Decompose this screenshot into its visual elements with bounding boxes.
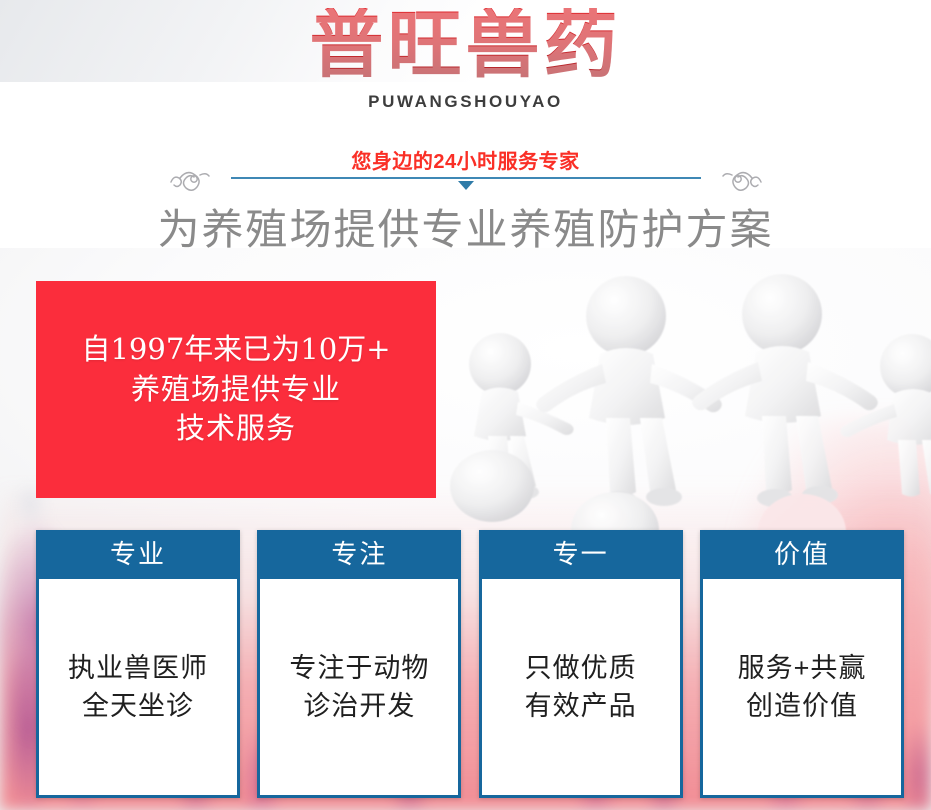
feature-card-body: 只做优质 有效产品 [479,579,683,798]
logo-block: 普旺兽药 PUWANGSHOUYAO [0,8,931,112]
claim-text: 自1997年来已为10万+ 养殖场提供专业 技术服务 [81,330,390,448]
claim-box: 自1997年来已为10万+ 养殖场提供专业 技术服务 [36,281,436,498]
feature-card-line-2: 创造价值 [738,687,867,725]
headline: 为养殖场提供专业养殖防护方案 [0,206,931,254]
brand-pinyin: PUWANGSHOUYAO [0,92,931,112]
promo-banner: 普旺兽药 PUWANGSHOUYAO 您身边的24小时服务专家 [0,0,931,810]
triangle-down-icon [458,181,474,190]
feature-card-line-1: 执业兽医师 [68,649,208,687]
feature-card-1[interactable]: 专业 执业兽医师 全天坐诊 [36,530,240,798]
feature-card-line-2: 有效产品 [525,687,637,725]
feature-card-line-2: 全天坐诊 [68,687,208,725]
feature-card-heading: 专注 [257,530,461,579]
feature-cards: 专业 执业兽医师 全天坐诊 专注 专注于动物 诊治开发 专一 只做优质 [36,530,904,798]
feature-card-line-2: 诊治开发 [289,687,429,725]
feature-card-heading: 价值 [700,530,904,579]
brand-title: 普旺兽药 [0,8,931,82]
figurines-group-icon [430,268,931,536]
claim-line-2: 养殖场提供专业 [81,370,390,409]
feature-card-4[interactable]: 价值 服务+共赢 创造价值 [700,530,904,798]
feature-card-2[interactable]: 专注 专注于动物 诊治开发 [257,530,461,798]
feature-card-body: 服务+共赢 创造价值 [700,579,904,798]
feature-card-body: 执业兽医师 全天坐诊 [36,579,240,798]
tagline-rule [231,177,701,179]
feature-card-heading: 专一 [479,530,683,579]
feature-card-line-1: 专注于动物 [289,649,429,687]
flourish-ornament-left-icon [167,166,221,192]
claim-line-1: 自1997年来已为10万+ [81,330,390,369]
claim-line-3: 技术服务 [81,409,390,448]
tagline-rule-block: 您身边的24小时服务专家 [231,152,701,179]
tagline-text: 您身边的24小时服务专家 [231,152,701,174]
feature-card-body: 专注于动物 诊治开发 [257,579,461,798]
feature-card-line-1: 只做优质 [525,649,637,687]
feature-card-heading: 专业 [36,530,240,579]
tagline-row: 您身边的24小时服务专家 [0,152,931,204]
feature-card-3[interactable]: 专一 只做优质 有效产品 [479,530,683,798]
feature-card-line-1: 服务+共赢 [738,649,867,687]
flourish-ornament-right-icon [711,166,765,192]
